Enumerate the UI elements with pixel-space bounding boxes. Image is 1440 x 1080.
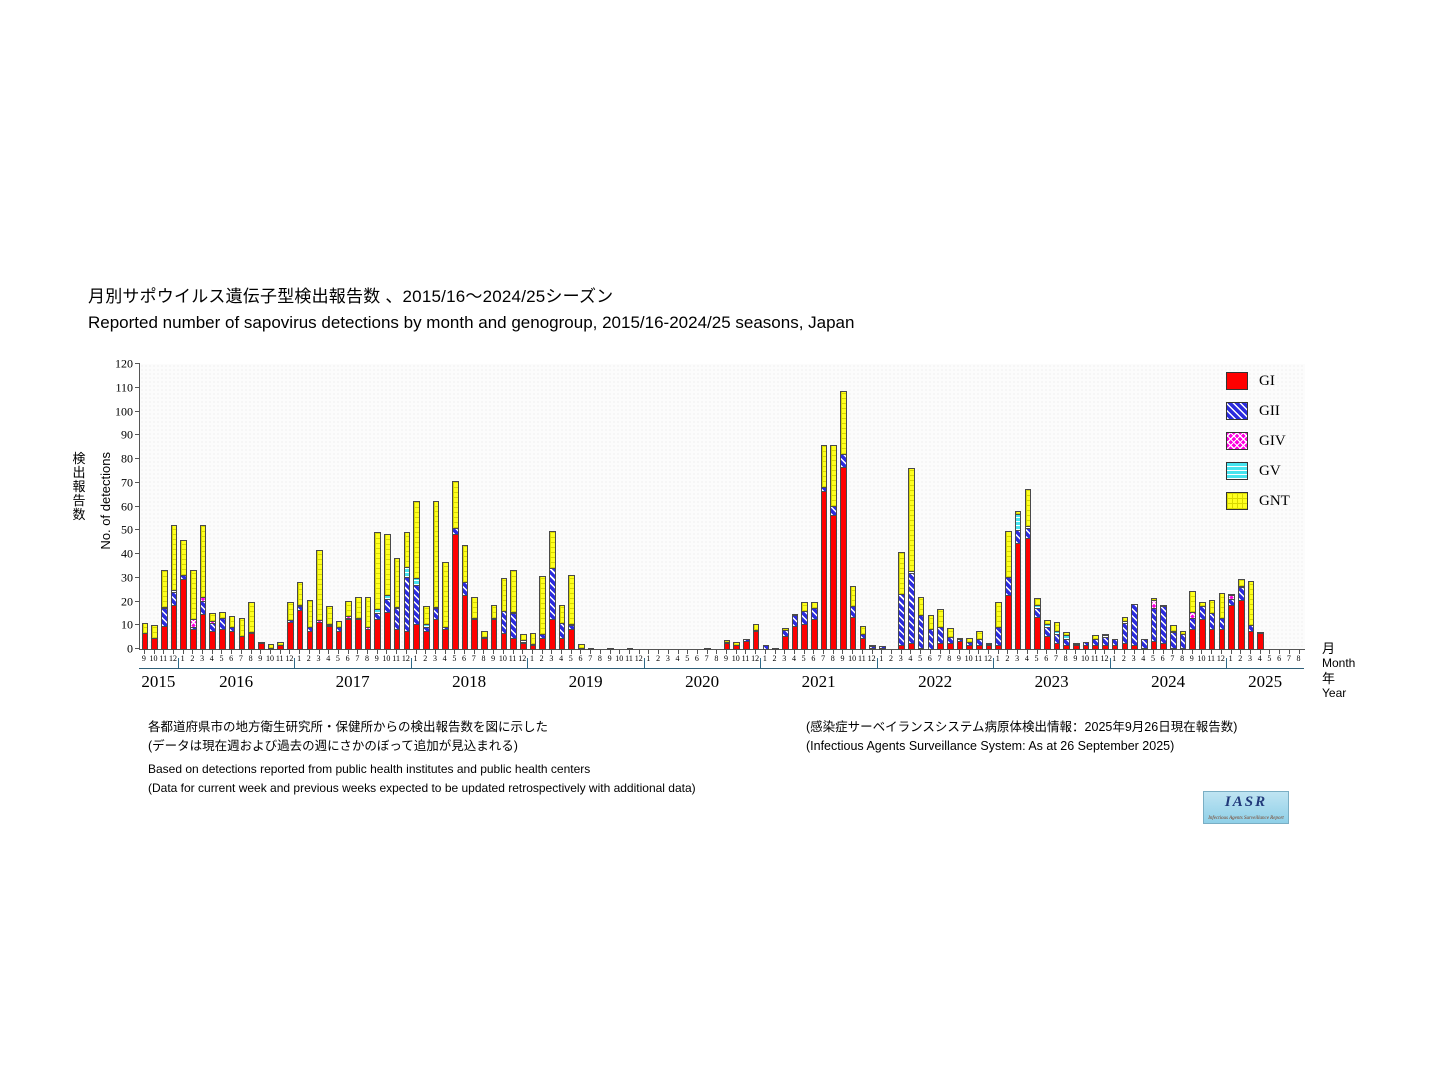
bar-segment-gii [1005, 577, 1012, 596]
bar-slot [451, 364, 461, 649]
bar-segment-gnt [433, 501, 440, 608]
month-tick-label: 9 [142, 654, 146, 663]
month-tick-label: 1 [1229, 654, 1233, 663]
month-tick-cell: 3 [1012, 650, 1022, 666]
bar-slot [557, 364, 567, 649]
stacked-bar[interactable] [937, 609, 944, 649]
stacked-bar[interactable] [277, 642, 284, 650]
year-divider [411, 658, 412, 668]
month-tick-cell: 9 [1187, 650, 1197, 666]
month-tick-label: 7 [588, 654, 592, 663]
month-tick-cell: 11 [1090, 650, 1100, 666]
month-tick-cell: 9 [838, 650, 848, 666]
bar-slot [499, 364, 509, 649]
month-tick-cell: 4 [906, 650, 916, 666]
stacked-bar[interactable] [830, 445, 837, 649]
stacked-bar[interactable] [481, 631, 488, 649]
stacked-bar[interactable] [433, 501, 440, 649]
legend-label: GV [1259, 463, 1281, 480]
legend-item-gnt[interactable]: GNT [1226, 486, 1336, 516]
month-tick-cell: 2 [304, 650, 314, 666]
bar-slot [577, 364, 587, 649]
bar-slot [907, 364, 917, 649]
bar-segment-gi [161, 626, 168, 650]
bar-slot [829, 364, 839, 649]
bar-slot [761, 364, 771, 649]
stacked-bar[interactable] [607, 648, 614, 649]
stacked-bar[interactable] [209, 613, 216, 649]
stacked-bar[interactable] [763, 645, 770, 649]
stacked-bar[interactable] [753, 624, 760, 650]
stacked-bar[interactable] [171, 525, 178, 649]
bar-slot [916, 364, 926, 649]
month-tick-cell: 9 [721, 650, 731, 666]
stacked-bar[interactable] [704, 648, 711, 649]
stacked-bar[interactable] [898, 552, 905, 649]
month-tick-cell: 2 [770, 650, 780, 666]
month-tick-label: 2 [773, 654, 777, 663]
stacked-bar[interactable] [258, 642, 265, 650]
bar-segment-gii [171, 592, 178, 606]
legend-swatch-giv [1226, 432, 1248, 450]
month-tick-label: 4 [443, 654, 447, 663]
bar-slot [1101, 364, 1111, 649]
month-tick-cell: 12 [517, 650, 527, 666]
bar-segment-gnt [898, 552, 905, 595]
bar-slot [615, 364, 625, 649]
stacked-bar[interactable] [491, 605, 498, 650]
bar-slot [266, 364, 276, 649]
stacked-bar[interactable] [1034, 598, 1041, 649]
stacked-bar[interactable] [1170, 625, 1177, 650]
stacked-bar[interactable] [1102, 634, 1109, 649]
bar-segment-gi [229, 631, 236, 650]
stacked-bar[interactable] [326, 606, 333, 650]
stacked-bar[interactable] [1209, 600, 1216, 649]
month-tick-cell: 10 [149, 650, 159, 666]
bar-segment-gi [801, 624, 808, 650]
stacked-bar[interactable] [559, 605, 566, 650]
stacked-bar[interactable] [821, 445, 828, 649]
footnote-ja-left-line1: 各都道府県市の地方衛生研究所・保健所からの検出報告数を図に示した [148, 718, 548, 737]
stacked-bar[interactable] [578, 644, 585, 649]
month-tick-cell: 4 [440, 650, 450, 666]
stacked-bar[interactable] [549, 531, 556, 649]
stacked-bar[interactable] [1151, 598, 1158, 649]
bar-segment-gii [908, 573, 915, 644]
year-label: 2022 [918, 672, 952, 692]
bar-segment-gnt [1209, 600, 1216, 614]
month-tick-label: 2 [540, 654, 544, 663]
stacked-bar[interactable] [530, 633, 537, 649]
bar-slot [664, 364, 674, 649]
bar-segment-gnt [151, 625, 158, 639]
month-tick-label: 1 [996, 654, 1000, 663]
bar-segment-gnt [355, 597, 362, 618]
stacked-bar[interactable] [384, 534, 391, 649]
stacked-bar[interactable] [840, 391, 847, 649]
stacked-bar[interactable] [1199, 602, 1206, 649]
month-tick-cell: 9 [372, 650, 382, 666]
month-tick-cell: 7 [1168, 650, 1178, 666]
month-tick-cell: 7 [702, 650, 712, 666]
bar-slot [926, 364, 936, 649]
bar-slot [198, 364, 208, 649]
bar-segment-gi [1005, 595, 1012, 650]
bar-segment-gi [1199, 619, 1206, 650]
month-tick-label: 6 [695, 654, 699, 663]
year-label: 2015 [141, 672, 175, 692]
stacked-bar[interactable] [1257, 632, 1264, 649]
month-tick-cell: 6 [226, 650, 236, 666]
bar-slot [247, 364, 257, 649]
month-tick-cell: 10 [498, 650, 508, 666]
month-tick-cell: 1 [178, 650, 188, 666]
stacked-bar[interactable] [986, 643, 993, 650]
stacked-bar[interactable] [239, 618, 246, 649]
bar-segment-gii [413, 585, 420, 625]
bar-segment-gnt [297, 582, 304, 606]
month-tick-cell: 8 [479, 650, 489, 666]
bar-slot [363, 364, 373, 649]
stacked-bar[interactable] [869, 645, 876, 649]
bar-segment-gnt [171, 525, 178, 592]
bar-segment-gii [1160, 606, 1167, 644]
year-divider [644, 658, 645, 668]
bar-slot [955, 364, 965, 649]
month-tick-label: 11 [974, 654, 982, 663]
year-label: 2020 [685, 672, 719, 692]
month-tick-label: 6 [578, 654, 582, 663]
bar-slot [489, 364, 499, 649]
bar-slot [548, 364, 558, 649]
stacked-bar[interactable] [336, 621, 343, 649]
bar-segment-gi [190, 629, 197, 650]
stacked-bar[interactable] [539, 576, 546, 649]
month-tick-label: 6 [229, 654, 233, 663]
stacked-bar[interactable] [811, 602, 818, 649]
bar-segment-gnt [840, 391, 847, 455]
stacked-bar[interactable] [510, 570, 517, 649]
stacked-bar[interactable] [724, 640, 731, 649]
bar-segment-gnt [1005, 531, 1012, 579]
bar-slot [722, 364, 732, 649]
bar-segment-gnt [326, 606, 333, 625]
bar-slot [654, 364, 664, 649]
bar-slot [1198, 364, 1208, 649]
bar-segment-gnt [471, 597, 478, 618]
month-tick-cell: 3 [1245, 650, 1255, 666]
bar-segment-gnt [345, 601, 352, 618]
year-divider [527, 658, 528, 668]
bar-segment-gnt [908, 468, 915, 573]
bar-segment-gi [336, 631, 343, 650]
bar-segment-gnt [1219, 593, 1226, 619]
month-tick-cell: 12 [750, 650, 760, 666]
x-axis-year-band: 2015201620172018201920202021202220232024… [139, 668, 1304, 706]
bar-segment-gnt [404, 532, 411, 568]
stacked-bar[interactable] [1025, 489, 1032, 649]
year-divider [993, 658, 994, 668]
stacked-bar[interactable] [1073, 643, 1080, 650]
stacked-bar[interactable] [1015, 511, 1022, 650]
bar-segment-gi [1054, 643, 1061, 650]
stacked-bar[interactable] [297, 582, 304, 649]
stacked-bar[interactable] [1005, 531, 1012, 649]
bar-segment-gii [1199, 606, 1206, 620]
stacked-bar[interactable] [568, 575, 575, 649]
stacked-bar[interactable] [1238, 579, 1245, 649]
year-label: 2019 [569, 672, 603, 692]
stacked-bar[interactable] [627, 648, 634, 649]
month-tick-cell: 2 [420, 650, 430, 666]
stacked-bar[interactable] [860, 626, 867, 649]
stacked-bar[interactable] [268, 644, 275, 649]
y-tick-label: 90 [121, 428, 133, 443]
bar-slot [625, 364, 635, 649]
bar-slot [780, 364, 790, 649]
stacked-bar[interactable] [462, 545, 469, 649]
month-tick-label: 10 [965, 654, 973, 663]
month-tick-cell: 8 [944, 650, 954, 666]
month-tick-cell: 10 [964, 650, 974, 666]
month-tick-label: 11 [742, 654, 750, 663]
month-tick-cell: 7 [236, 650, 246, 666]
stacked-bar[interactable] [1189, 591, 1196, 649]
stacked-bar[interactable] [1131, 604, 1138, 650]
month-tick-cell: 5 [799, 650, 809, 666]
stacked-bar[interactable] [345, 601, 352, 649]
bar-segment-gi [1044, 636, 1051, 650]
stacked-bar[interactable] [1044, 620, 1051, 649]
bar-segment-gi [860, 638, 867, 650]
stacked-bar[interactable] [1054, 622, 1061, 649]
stacked-bar[interactable] [782, 628, 789, 649]
year-divider [294, 658, 295, 668]
stacked-bar[interactable] [976, 631, 983, 649]
month-tick-label: 3 [200, 654, 204, 663]
stacked-bar[interactable] [850, 586, 857, 650]
bar-segment-gi [471, 619, 478, 650]
bar-slot [790, 364, 800, 649]
stacked-bar[interactable] [792, 614, 799, 649]
y-tick-label: 80 [121, 452, 133, 467]
bar-segment-gnt [510, 570, 517, 613]
year-label: 2017 [336, 672, 370, 692]
bar-slot [150, 364, 160, 649]
month-tick-cell: 6 [809, 650, 819, 666]
bar-slot [567, 364, 577, 649]
month-tick-cell: 10 [731, 650, 741, 666]
stacked-bar[interactable] [1063, 632, 1070, 649]
bar-segment-gnt [501, 578, 508, 611]
y-axis-label-japanese: 検出報告数 [72, 452, 86, 522]
month-tick-label: 4 [676, 654, 680, 663]
month-tick-cell: 6 [925, 650, 935, 666]
stacked-bar[interactable] [772, 648, 779, 649]
stacked-bar[interactable] [501, 578, 508, 649]
stacked-bar[interactable] [365, 597, 372, 649]
stacked-bar[interactable] [1112, 639, 1119, 649]
stacked-bar[interactable] [928, 615, 935, 649]
bar-segment-gnt [239, 618, 246, 637]
month-tick-label: 12 [169, 654, 177, 663]
year-divider [1226, 658, 1227, 668]
month-tick-cell: 4 [673, 650, 683, 666]
bar-slot [1178, 364, 1188, 649]
stacked-bar[interactable] [190, 570, 197, 649]
stacked-bar[interactable] [394, 558, 401, 649]
stacked-bar[interactable] [229, 616, 236, 649]
stacked-bar[interactable] [918, 597, 925, 649]
month-tick-cell: 10 [1080, 650, 1090, 666]
stacked-bar[interactable] [520, 634, 527, 649]
bar-slot [674, 364, 684, 649]
month-tick-cell: 8 [711, 650, 721, 666]
month-tick-label: 12 [285, 654, 293, 663]
month-tick-label: 6 [1161, 654, 1165, 663]
month-tick-cell: 5 [1032, 650, 1042, 666]
month-tick-label: 7 [239, 654, 243, 663]
bar-segment-gi [510, 638, 517, 650]
month-tick-cell: 8 [246, 650, 256, 666]
stacked-bar[interactable] [1083, 642, 1090, 650]
month-tick-label: 3 [782, 654, 786, 663]
stacked-bar[interactable] [355, 597, 362, 649]
stacked-bar[interactable] [423, 606, 430, 650]
month-tick-label: 4 [326, 654, 330, 663]
stacked-bar[interactable] [1160, 605, 1167, 650]
month-tick-cell: 5 [566, 650, 576, 666]
stacked-bar[interactable] [452, 481, 459, 649]
month-tick-cell: 9 [954, 650, 964, 666]
bar-slot [334, 364, 344, 649]
bar-segment-gnt [1189, 591, 1196, 612]
bar-slot [751, 364, 761, 649]
month-tick-label: 11 [858, 654, 866, 663]
stacked-bar[interactable] [588, 648, 595, 649]
legend-item-gi[interactable]: GI [1226, 366, 1336, 396]
stacked-bar[interactable] [413, 501, 420, 649]
stacked-bar[interactable] [1141, 639, 1148, 649]
bar-segment-gi [501, 633, 508, 650]
month-tick-label: 2 [1122, 654, 1126, 663]
stacked-bar[interactable] [142, 623, 149, 650]
legend-item-gv[interactable]: GV [1226, 456, 1336, 486]
month-tick-cell: 9 [605, 650, 615, 666]
month-tick-label: 10 [382, 654, 390, 663]
bar-slot [868, 364, 878, 649]
year-divider [178, 658, 179, 668]
legend-item-gii[interactable]: GII [1226, 396, 1336, 426]
month-tick-cell: 4 [1255, 650, 1265, 666]
bar-slot [412, 364, 422, 649]
month-tick-label: 10 [1197, 654, 1205, 663]
stacked-bar[interactable] [1228, 594, 1235, 649]
bar-segment-gi [297, 610, 304, 650]
bar-segment-gi [753, 631, 760, 650]
stacked-bar[interactable] [801, 602, 808, 649]
footnote-english-left: Based on detections reported from public… [148, 760, 696, 797]
bar-segment-gi [384, 612, 391, 650]
stacked-bar[interactable] [442, 562, 449, 649]
stacked-bar[interactable] [879, 646, 886, 649]
stacked-bar[interactable] [219, 612, 226, 649]
stacked-bar[interactable] [1248, 581, 1255, 649]
month-tick-cell: 11 [158, 650, 168, 666]
month-tick-cell: 12 [285, 650, 295, 666]
month-tick-label: 9 [1073, 654, 1077, 663]
bar-segment-gii [898, 594, 905, 646]
bar-slot [994, 364, 1004, 649]
month-tick-label: 2 [889, 654, 893, 663]
bar-segment-gnt [200, 525, 207, 599]
stacked-bar[interactable] [200, 525, 207, 649]
stacked-bar[interactable] [1219, 593, 1226, 649]
stacked-bar[interactable] [957, 638, 964, 649]
bar-segment-gi [209, 631, 216, 650]
month-tick-label: 12 [518, 654, 526, 663]
stacked-bar[interactable] [1180, 631, 1187, 649]
stacked-bar[interactable] [908, 468, 915, 649]
chart-title-english: Reported number of sapovirus detections … [88, 313, 854, 333]
month-tick-label: 11 [276, 654, 284, 663]
stacked-bar[interactable] [374, 532, 381, 649]
bar-segment-gii [1238, 587, 1245, 601]
month-tick-cell: 7 [1284, 650, 1294, 666]
stacked-bar[interactable] [1092, 635, 1099, 649]
bar-slot [742, 364, 752, 649]
stacked-bar[interactable] [995, 602, 1002, 649]
month-tick-cell: 9 [255, 650, 265, 666]
bar-slot [189, 364, 199, 649]
month-tick-cell: 7 [935, 650, 945, 666]
stacked-bar[interactable] [947, 628, 954, 649]
month-tick-label: 11 [1091, 654, 1099, 663]
bar-segment-gnt [365, 597, 372, 628]
stacked-bar[interactable] [248, 602, 255, 649]
stacked-bar[interactable] [743, 639, 750, 649]
bar-slot [402, 364, 412, 649]
stacked-bar[interactable] [316, 550, 323, 649]
bar-segment-gi [947, 643, 954, 650]
stacked-bar[interactable] [151, 625, 158, 649]
legend-swatch-gii [1226, 402, 1248, 420]
bar-slot [1091, 364, 1101, 649]
stacked-bar[interactable] [733, 642, 740, 650]
stacked-bar[interactable] [471, 597, 478, 649]
stacked-bar[interactable] [307, 600, 314, 649]
stacked-bar[interactable] [161, 570, 168, 649]
legend-item-giv[interactable]: GIV [1226, 426, 1336, 456]
stacked-bar[interactable] [966, 638, 973, 649]
bar-segment-gi [724, 643, 731, 650]
month-tick-cell: 5 [1148, 650, 1158, 666]
month-tick-cell: 6 [1274, 650, 1284, 666]
month-tick-cell: 3 [430, 650, 440, 666]
stacked-bar[interactable] [180, 540, 187, 649]
month-tick-cell: 8 [362, 650, 372, 666]
month-tick-cell: 12 [1100, 650, 1110, 666]
stacked-bar[interactable] [1122, 617, 1129, 649]
legend-label: GIV [1259, 433, 1286, 450]
month-tick-label: 5 [1151, 654, 1155, 663]
stacked-bar[interactable] [287, 602, 294, 649]
month-tick-cell: 10 [265, 650, 275, 666]
stacked-bar[interactable] [404, 532, 411, 649]
bar-segment-gii [1015, 530, 1022, 544]
month-tick-cell: 7 [469, 650, 479, 666]
